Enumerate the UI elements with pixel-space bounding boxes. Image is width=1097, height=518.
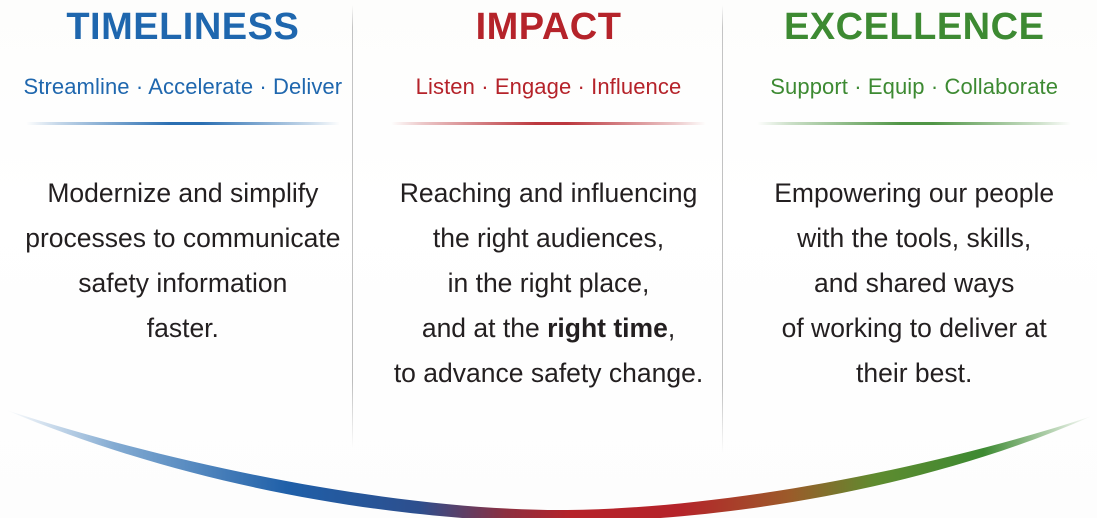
- body-text: Empowering our people with the tools, sk…: [774, 178, 1054, 388]
- column-body-excellence: Empowering our people with the tools, sk…: [774, 171, 1054, 396]
- column-title-timeliness: TIMELINESS: [66, 8, 299, 48]
- column-timeliness: TIMELINESS Streamline · Accelerate · Del…: [0, 0, 366, 518]
- column-subtitle-impact: Listen · Engage · Influence: [416, 74, 682, 100]
- body-text: Modernize and simplify processes to comm…: [25, 178, 340, 343]
- column-divider-left: [352, 5, 353, 448]
- values-columns: TIMELINESS Streamline · Accelerate · Del…: [0, 0, 1097, 518]
- column-subtitle-timeliness: Streamline · Accelerate · Deliver: [23, 74, 342, 100]
- column-rule-excellence: [757, 122, 1071, 125]
- column-divider-right: [722, 5, 723, 453]
- column-excellence: EXCELLENCE Support · Equip · Collaborate…: [731, 0, 1097, 518]
- column-subtitle-excellence: Support · Equip · Collaborate: [770, 74, 1058, 100]
- column-title-excellence: EXCELLENCE: [784, 8, 1044, 48]
- column-impact: IMPACT Listen · Engage · Influence Reach…: [366, 0, 732, 518]
- column-rule-impact: [391, 122, 705, 125]
- body-emphasis: right time: [547, 313, 668, 343]
- column-body-impact: Reaching and influencing the right audie…: [394, 171, 703, 396]
- column-title-impact: IMPACT: [476, 8, 622, 48]
- values-graphic: TIMELINESS Streamline · Accelerate · Del…: [0, 0, 1097, 518]
- column-rule-timeliness: [26, 122, 340, 125]
- column-body-timeliness: Modernize and simplify processes to comm…: [25, 171, 340, 351]
